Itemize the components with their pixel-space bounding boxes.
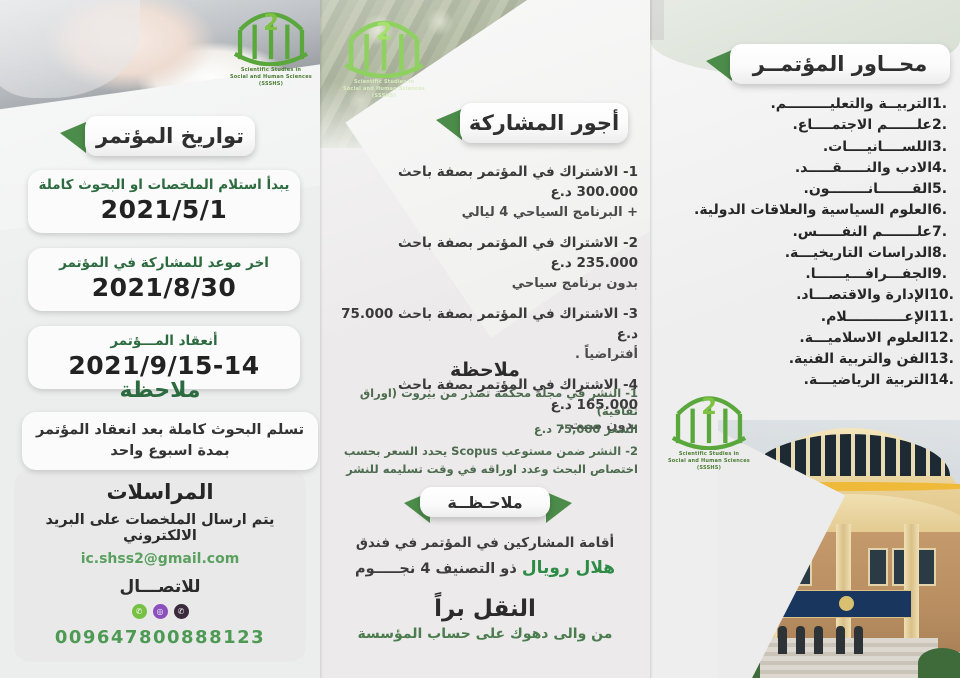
axis-number: 12. xyxy=(929,328,954,349)
brochure-page: تواريخ المؤتمر يبدأ استلام الملخصات او ا… xyxy=(0,0,960,678)
person-figure xyxy=(814,626,823,654)
fee-subtext: بدون برنامج سياحي xyxy=(332,274,638,294)
axis-number: 10. xyxy=(929,285,954,306)
date-card-label: أنعقاد المـــؤتمر xyxy=(32,333,296,350)
fee-text: الاشتراك في المؤتمر بصفة باحث 235.000 د.… xyxy=(398,235,638,271)
axis-number: 2. xyxy=(932,115,954,136)
panel-conference-dates: تواريخ المؤتمر يبدأ استلام الملخصات او ا… xyxy=(0,0,320,678)
fee-item: 1- الاشتراك في المؤتمر بصفة باحث 300.000… xyxy=(332,162,638,222)
axis-number: 11. xyxy=(929,307,954,328)
logo-caption-line2: Social and Human Sciences xyxy=(666,458,752,465)
logo-caption: Scientific Studies in Social and Human S… xyxy=(338,79,430,99)
axis-item: 13.الفن والتربية الفنية. xyxy=(658,349,954,370)
transport-title: النقل براً xyxy=(330,596,640,622)
conference-logo: 2 Scientific Studies in Social and Human… xyxy=(338,12,430,99)
hotel-line1: أقامة المشاركين في المؤتمر في فندق xyxy=(330,533,640,555)
logo-caption-line1: Scientific Studies in xyxy=(338,79,430,86)
logo-caption-line3: (SSSHS) xyxy=(228,81,314,88)
mid-note-item: 1- النشر في مجلة محكمة تصدر من بيروت (او… xyxy=(332,385,638,438)
axis-label: الإعــــــــــــلام. xyxy=(664,307,929,328)
axis-label: الجفـــرافـــيــــــا. xyxy=(664,264,932,285)
contact-instruction: يتم ارسال الملخصات على البريد الالكتروني xyxy=(14,512,306,544)
logo-mark-icon: 2 xyxy=(338,12,430,78)
fee-subtext: + البرنامج السياحي 4 ليالي xyxy=(332,203,638,223)
axis-number: 5. xyxy=(932,179,954,200)
person-figure xyxy=(854,626,863,654)
axes-title: محــاور المؤتمــر xyxy=(753,52,928,76)
contact-title: المراسلات xyxy=(14,480,306,504)
date-card: اخر موعد للمشاركة في المؤتمر 2021/8/30 xyxy=(28,248,300,311)
mid-note-number: 1- xyxy=(625,386,638,400)
svg-text:2: 2 xyxy=(263,10,279,36)
date-card-label: يبدأ استلام الملخصات او البحوث كاملة xyxy=(32,177,296,194)
axis-number: 14. xyxy=(929,370,954,391)
mid-note-text: النشر ضمن مستوعب Scopus يحدد السعر بحسب xyxy=(344,444,621,458)
panel-conference-axes: محــاور المؤتمــر 1.التربيــة والتعليـــ… xyxy=(650,0,960,678)
hotel-name: هلال رويال xyxy=(522,558,615,578)
photo-sleeve-detail xyxy=(0,0,140,98)
fee-item: 3- الاشتراك في المؤتمر بصفة باحث 75.000 … xyxy=(332,304,638,364)
instagram-icon[interactable]: ◎ xyxy=(153,604,168,619)
axis-item: 7.علـــــــم النفـــــس. xyxy=(658,222,954,243)
axis-number: 13. xyxy=(929,349,954,370)
mid-note-title: ملاحظة xyxy=(320,359,650,381)
transport-subtitle: من والى دهوك على حساب المؤسسة xyxy=(330,626,640,642)
ribbon-tail-left-axes xyxy=(706,50,732,81)
axis-number: 6. xyxy=(932,200,954,221)
axis-item: 8.الدراسات التاريخيـــة. xyxy=(658,243,954,264)
header-ribbon-dates: تواريخ المؤتمر xyxy=(85,116,255,156)
ribbon-tail-left-fees xyxy=(436,109,462,140)
building-bush xyxy=(918,648,960,678)
conference-logo: 2 Scientific Studies in Social and Human… xyxy=(666,388,752,471)
header-ribbon-axes: محــاور المؤتمــر xyxy=(730,44,950,84)
fee-text: الاشتراك في المؤتمر بصفة باحث 75.000 د.ع xyxy=(341,306,638,342)
axis-label: الفن والتربية الفنية. xyxy=(664,349,929,370)
hotel-line2: هلال رويال ذو التصنيف 4 نجـــــوم xyxy=(330,555,640,582)
left-note-box: تسلم البحوث كاملة بعد انعقاد المؤتمر بمد… xyxy=(22,412,318,470)
mid-note-item: 2- النشر ضمن مستوعب Scopus يحدد السعر بح… xyxy=(332,443,638,479)
axis-number: 3. xyxy=(932,137,954,158)
viber-icon[interactable]: ✆ xyxy=(174,604,189,619)
axis-item: 11.الإعــــــــــــلام. xyxy=(658,307,954,328)
contact-box: المراسلات يتم ارسال الملخصات على البريد … xyxy=(14,470,306,662)
axis-item: 5.القـــــــانــــــــون. xyxy=(658,179,954,200)
axis-item: 9.الجفـــرافـــيــــــا. xyxy=(658,264,954,285)
axis-item: 10.الإدارة والاقتصـــاد. xyxy=(658,285,954,306)
date-card-value: 2021/8/30 xyxy=(32,273,296,302)
mid-note-subtext: اختصاص البحث وعدد اوراقه في وقت تسليمه ل… xyxy=(332,461,638,479)
axis-item: 1.التربيــة والتعليـــــــــم. xyxy=(658,94,954,115)
logo-caption-line3: (SSSHS) xyxy=(338,93,430,100)
date-card-label: اخر موعد للمشاركة في المؤتمر xyxy=(32,255,296,272)
logo-caption-line2: Social and Human Sciences xyxy=(228,74,314,81)
contact-phone[interactable]: 009647800888123 xyxy=(14,627,306,648)
conference-logo: 2 Scientific Studies in Social and Human… xyxy=(228,4,314,87)
axis-label: الإدارة والاقتصـــاد. xyxy=(664,285,929,306)
mid-note-number: 2- xyxy=(625,444,638,458)
logo-mark-icon: 2 xyxy=(228,4,314,66)
axis-number: 8. xyxy=(932,243,954,264)
fee-item: 2- الاشتراك في المؤتمر بصفة باحث 235.000… xyxy=(332,233,638,293)
person-figure xyxy=(796,626,805,654)
axis-item: 4.الادب والنـــــقـــــد. xyxy=(658,158,954,179)
note-ribbon-label: ملاحـظــة xyxy=(447,493,522,512)
person-figure xyxy=(778,626,787,654)
date-card-value: 2021/9/15-14 xyxy=(32,351,296,380)
logo-caption: Scientific Studies in Social and Human S… xyxy=(228,67,314,87)
axis-label: القـــــــانــــــــون. xyxy=(664,179,932,200)
person-figure xyxy=(836,626,845,654)
fee-text: الاشتراك في المؤتمر بصفة باحث 300.000 د.… xyxy=(398,164,638,200)
date-card-value: 2021/5/1 xyxy=(32,195,296,224)
hotel-and-transport-block: أقامة المشاركين في المؤتمر في فندق هلال … xyxy=(330,533,640,642)
svg-text:2: 2 xyxy=(376,18,393,46)
axis-number: 1. xyxy=(932,94,954,115)
axis-number: 9. xyxy=(932,264,954,285)
axis-label: اللســــانيــــات. xyxy=(664,137,932,158)
contact-email[interactable]: ic.shss2@gmail.com xyxy=(14,551,306,567)
building-window xyxy=(916,548,936,586)
axis-label: علـــــــم النفـــــس. xyxy=(664,222,932,243)
ribbon-tail-left-dates xyxy=(60,122,86,153)
axis-item: 2.علــــــم الاجتمــــاع. xyxy=(658,115,954,136)
social-icon-row: ✆ ◎ ✆ xyxy=(14,604,306,619)
fees-title: أجور المشاركة xyxy=(469,111,619,135)
panel-participation-fees: أجور المشاركة 1- الاشتراك في المؤتمر بصف… xyxy=(320,0,650,678)
axis-label: العلوم الاسلاميـــة. xyxy=(664,328,929,349)
header-ribbon-note: ملاحـظــة xyxy=(420,487,550,517)
left-note-line1: تسلم البحوث كاملة بعد انعقاد المؤتمر xyxy=(32,420,308,441)
axes-list: 1.التربيــة والتعليـــــــــم. 2.علـــــ… xyxy=(658,94,954,392)
mid-note-subtext: السعر 75,000 د.ع xyxy=(332,421,638,439)
fee-number: 2- xyxy=(623,235,638,251)
contact-call-label: للاتصـــال xyxy=(14,577,306,597)
date-card: يبدأ استلام الملخصات او البحوث كاملة 202… xyxy=(28,170,300,233)
axis-label: الادب والنـــــقـــــد. xyxy=(664,158,932,179)
axis-item: 12.العلوم الاسلاميـــة. xyxy=(658,328,954,349)
logo-caption-line1: Scientific Studies in xyxy=(228,67,314,74)
left-note-line2: بمدة اسبوع واحد xyxy=(32,441,308,462)
logo-caption-line1: Scientific Studies in xyxy=(666,451,752,458)
building-window xyxy=(868,548,888,586)
axis-label: التربيــة والتعليـــــــــم. xyxy=(664,94,932,115)
building-entrance-sign xyxy=(780,590,912,618)
axis-label: العلوم السياسية والعلاقات الدولية. xyxy=(664,200,932,221)
logo-caption: Scientific Studies in Social and Human S… xyxy=(666,451,752,471)
axis-label: علــــــم الاجتمــــاع. xyxy=(664,115,932,136)
left-note-title: ملاحظة xyxy=(0,378,320,403)
axis-label: الدراسات التاريخيـــة. xyxy=(664,243,932,264)
svg-text:2: 2 xyxy=(701,394,717,420)
axis-item: 6.العلوم السياسية والعلاقات الدولية. xyxy=(658,200,954,221)
axis-number: 7. xyxy=(932,222,954,243)
fee-number: 3- xyxy=(623,306,638,322)
mid-notes-list: 1- النشر في مجلة محكمة تصدر من بيروت (او… xyxy=(332,385,638,484)
hotel-rating: ذو التصنيف 4 نجـــــوم xyxy=(355,561,517,577)
fee-number: 1- xyxy=(623,164,638,180)
photo-university-building xyxy=(718,420,960,678)
logo-caption-line2: Social and Human Sciences xyxy=(338,86,430,93)
header-ribbon-fees: أجور المشاركة xyxy=(460,103,628,143)
whatsapp-icon[interactable]: ✆ xyxy=(132,604,147,619)
axis-number: 4. xyxy=(932,158,954,179)
logo-mark-icon: 2 xyxy=(666,388,752,450)
logo-caption-line3: (SSSHS) xyxy=(666,465,752,472)
mid-note-text: النشر في مجلة محكمة تصدر من بيروت (اوراق… xyxy=(360,386,638,418)
dates-title: تواريخ المؤتمر xyxy=(96,124,244,148)
axis-item: 3.اللســــانيــــات. xyxy=(658,137,954,158)
